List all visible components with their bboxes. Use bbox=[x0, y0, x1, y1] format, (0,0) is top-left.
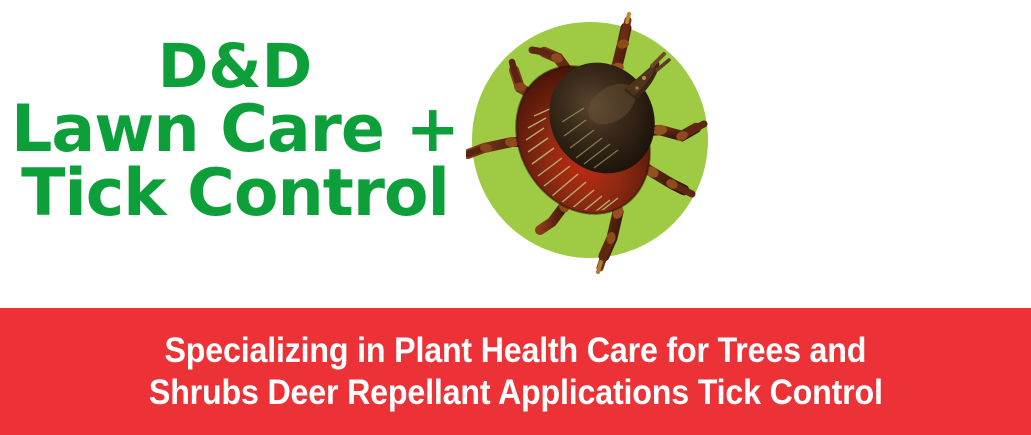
tagline-line-2: Shrubs Deer Repellant Applications Tick … bbox=[149, 372, 883, 413]
wordmark-line-2: Lawn Care + bbox=[0, 99, 470, 161]
tagline-line-1: Specializing in Plant Health Care for Tr… bbox=[165, 330, 867, 371]
masthead: D&D Lawn Care + Tick Control bbox=[0, 0, 1031, 308]
tick-logo-badge bbox=[466, 8, 716, 274]
tick-icon bbox=[466, 8, 716, 274]
brand-wordmark: D&D Lawn Care + Tick Control bbox=[0, 38, 470, 225]
tagline-banner: Specializing in Plant Health Care for Tr… bbox=[0, 308, 1031, 435]
logo-banner-canvas: D&D Lawn Care + Tick Control bbox=[0, 0, 1031, 435]
wordmark-line-3: Tick Control bbox=[0, 163, 470, 225]
wordmark-line-1: D&D bbox=[0, 38, 470, 97]
